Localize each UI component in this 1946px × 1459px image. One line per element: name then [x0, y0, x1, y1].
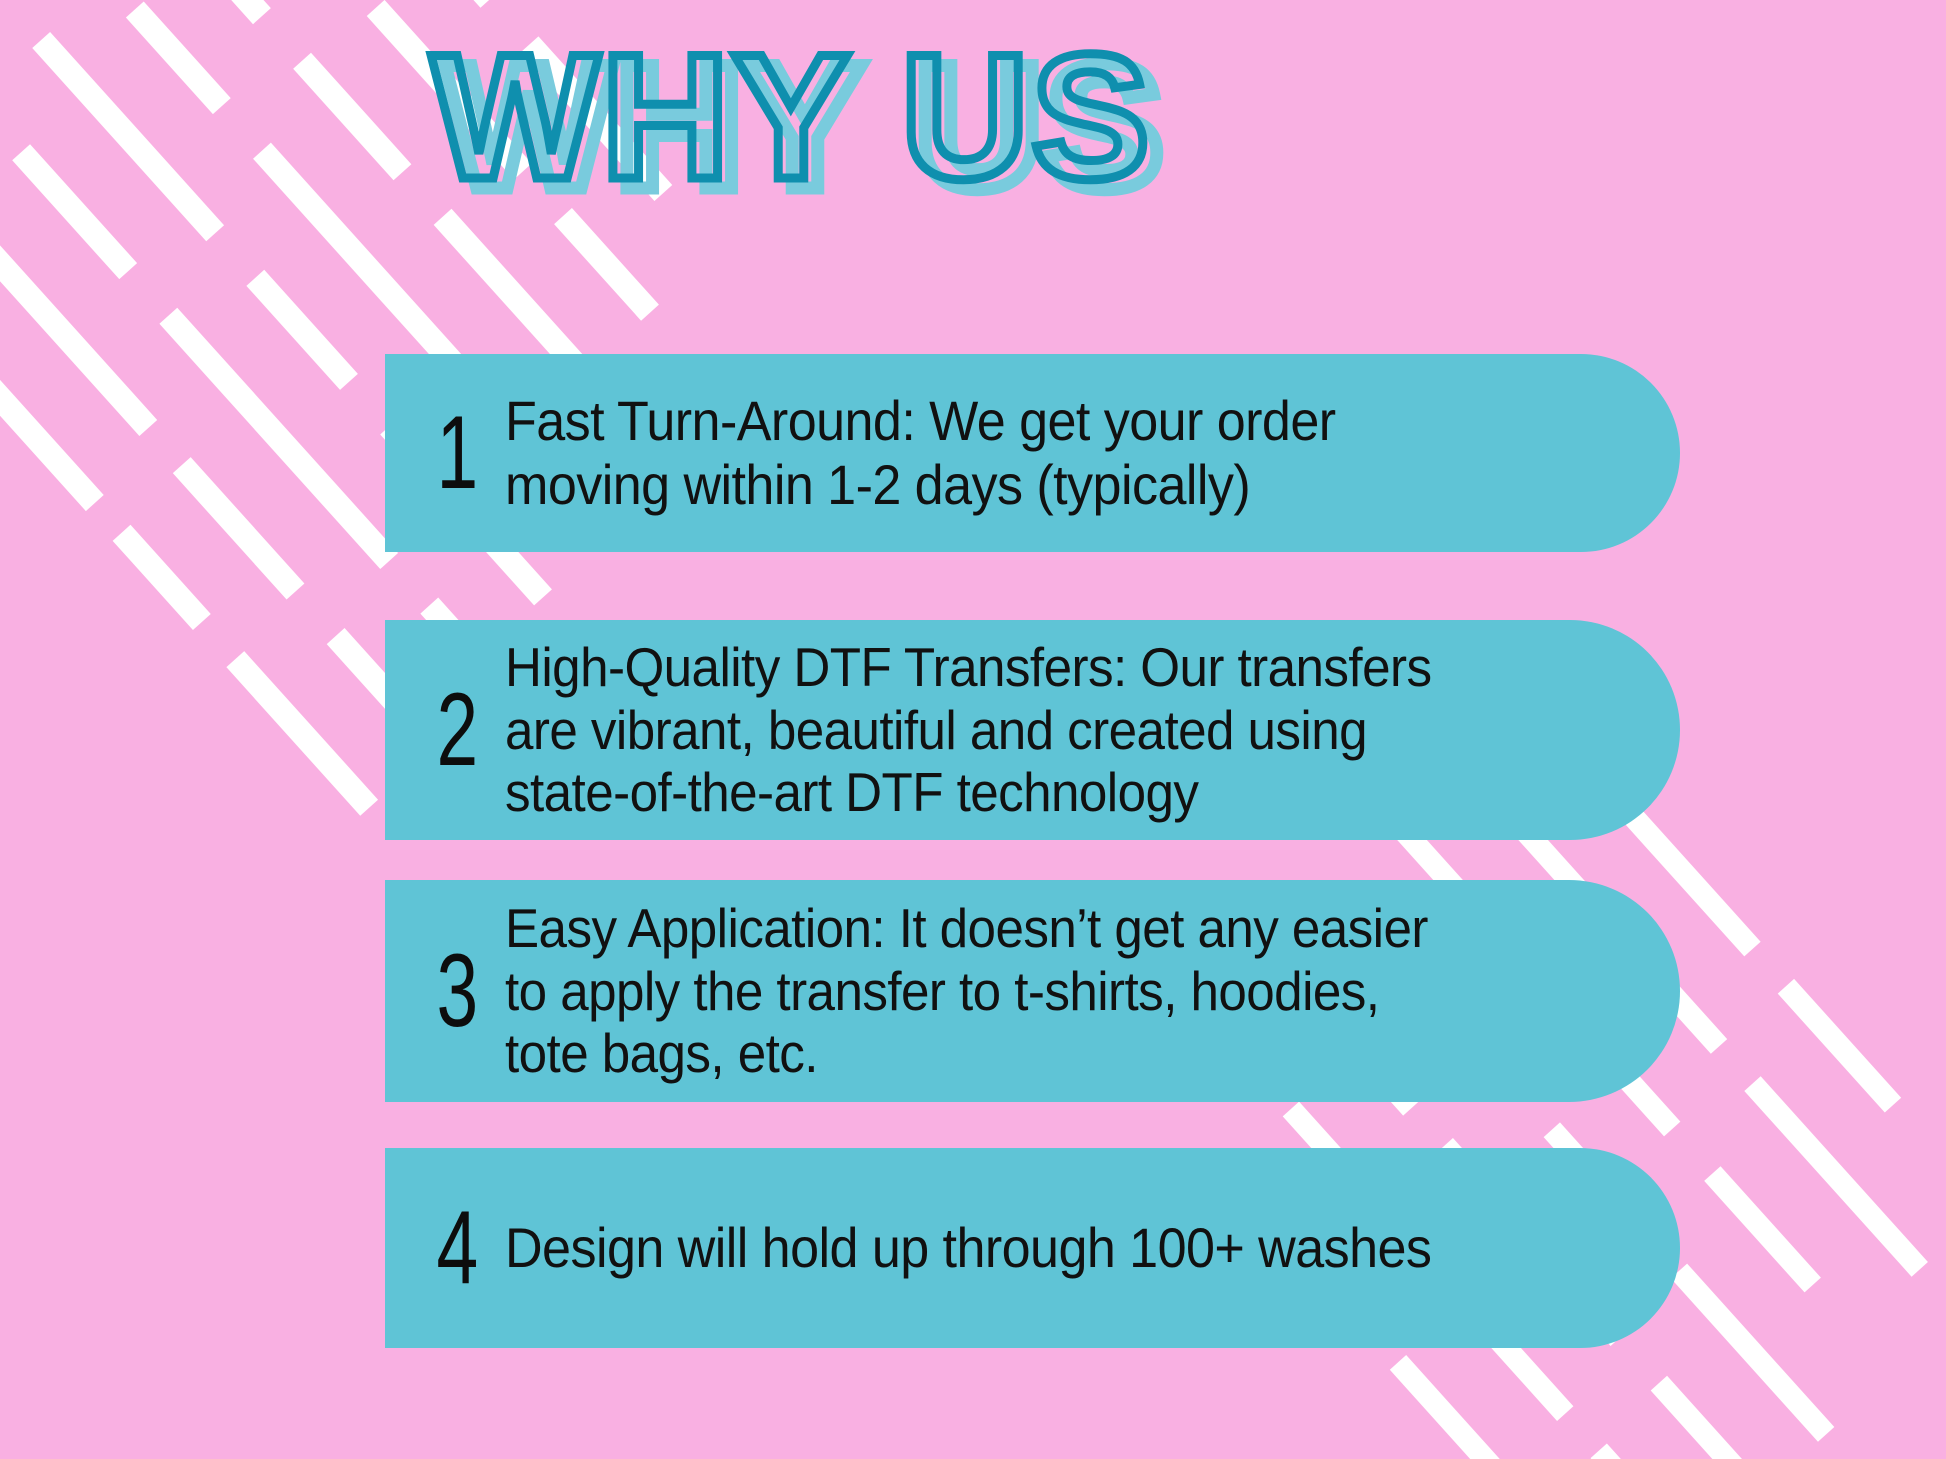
benefit-text-3: Easy Application: It doesn’t get any eas… — [505, 897, 1598, 1085]
benefit-text-2: High-Quality DTF Transfers: Our transfer… — [505, 636, 1598, 824]
benefit-card-2: 2 High-Quality DTF Transfers: Our transf… — [385, 620, 1680, 840]
title-outline-text: WHY US — [431, 38, 1152, 216]
page-title: WHY US WHY US — [0, 38, 1946, 248]
poster-canvas: WHY US WHY US 1 Fast Turn-Around: We get… — [0, 0, 1946, 1459]
benefit-card-1: 1 Fast Turn-Around: We get your order mo… — [385, 354, 1680, 552]
benefit-number-4: 4 — [422, 1196, 491, 1300]
benefit-card-3: 3 Easy Application: It doesn’t get any e… — [385, 880, 1680, 1102]
benefit-number-1: 1 — [422, 401, 491, 505]
benefit-number-3: 3 — [422, 939, 491, 1043]
why-us-title-svg: WHY US WHY US — [413, 38, 1533, 228]
benefit-text-4: Design will hold up through 100+ washes — [505, 1216, 1598, 1280]
benefit-card-4: 4 Design will hold up through 100+ washe… — [385, 1148, 1680, 1348]
benefit-number-2: 2 — [422, 678, 491, 782]
benefit-text-1: Fast Turn-Around: We get your order movi… — [505, 389, 1598, 517]
